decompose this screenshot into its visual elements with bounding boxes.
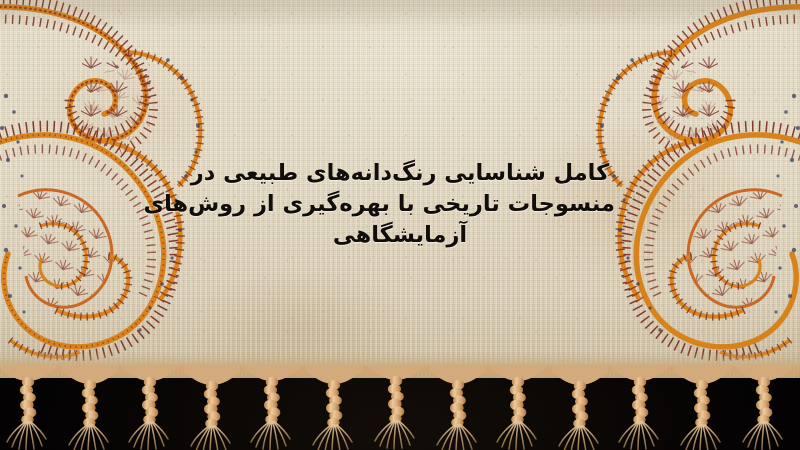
title-line-1: کامل شناسایی رنگ‌دانه‌های طبیعی در	[185, 158, 615, 189]
title-line-3: آزمایشگاهی	[185, 220, 615, 251]
title-card-canvas: کامل شناسایی رنگ‌دانه‌های طبیعی در منسوج…	[0, 0, 800, 450]
knotted-rope-tassel-fringe	[0, 366, 800, 450]
title-line-2: منسوجات تاریخی با بهره‌گیری از روش‌های	[185, 189, 615, 220]
page-title: کامل شناسایی رنگ‌دانه‌های طبیعی در منسوج…	[185, 158, 615, 251]
